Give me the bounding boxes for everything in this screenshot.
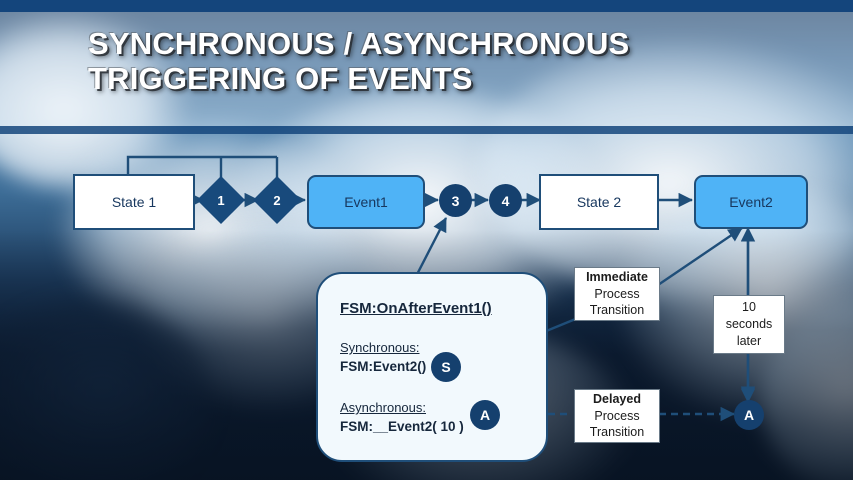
node-circle-4[interactable]: 4	[489, 184, 522, 217]
node-circle-3[interactable]: 3	[439, 184, 472, 217]
node-circle-async-left[interactable]: A	[470, 400, 500, 430]
callout-sync-label: Synchronous:	[340, 340, 420, 355]
node-state2[interactable]: State 2	[539, 174, 659, 230]
node-state1-label: State 1	[112, 194, 156, 210]
node-event1-label: Event1	[344, 194, 388, 210]
note-delayed-line1: Delayed	[593, 391, 641, 408]
note-immediate-line3: Transition	[590, 302, 644, 319]
node-circle-async-right-label: A	[744, 407, 754, 423]
note-immediate: Immediate Process Transition	[574, 267, 660, 321]
slide-canvas: SYNCHRONOUS / ASYNCHRONOUS TRIGGERING OF…	[0, 0, 853, 480]
note-immediate-line1: Immediate	[586, 269, 648, 286]
node-state2-label: State 2	[577, 194, 621, 210]
note-delay-line2: seconds	[726, 316, 773, 333]
note-delayed-line2: Process	[594, 408, 639, 425]
note-delay-line3: later	[737, 333, 761, 350]
note-delayed: Delayed Process Transition	[574, 389, 660, 443]
callout-async-label: Asynchronous:	[340, 400, 426, 415]
node-event2-label: Event2	[729, 194, 773, 210]
note-delay: 10 seconds later	[713, 295, 785, 354]
callout-sync-code: FSM:Event2()	[340, 359, 426, 374]
node-event1[interactable]: Event1	[307, 175, 425, 229]
node-circle-sync-label: S	[441, 359, 450, 375]
node-circle-sync[interactable]: S	[431, 352, 461, 382]
node-circle-4-label: 4	[502, 193, 510, 209]
callout-title: FSM:OnAfterEvent1()	[340, 300, 492, 317]
node-state1[interactable]: State 1	[73, 174, 195, 230]
node-event2[interactable]: Event2	[694, 175, 808, 229]
arrow-immediate-event2	[658, 228, 742, 285]
node-diamond-2-label: 2	[260, 183, 294, 217]
note-delayed-line3: Transition	[590, 424, 644, 441]
node-circle-3-label: 3	[452, 193, 460, 209]
node-circle-async-right[interactable]: A	[734, 400, 764, 430]
node-circle-async-left-label: A	[480, 407, 490, 423]
note-delay-line1: 10	[742, 299, 756, 316]
callout-async-code: FSM:__Event2( 10 )	[340, 419, 464, 434]
node-diamond-1-label: 1	[204, 183, 238, 217]
note-immediate-line2: Process	[594, 286, 639, 303]
